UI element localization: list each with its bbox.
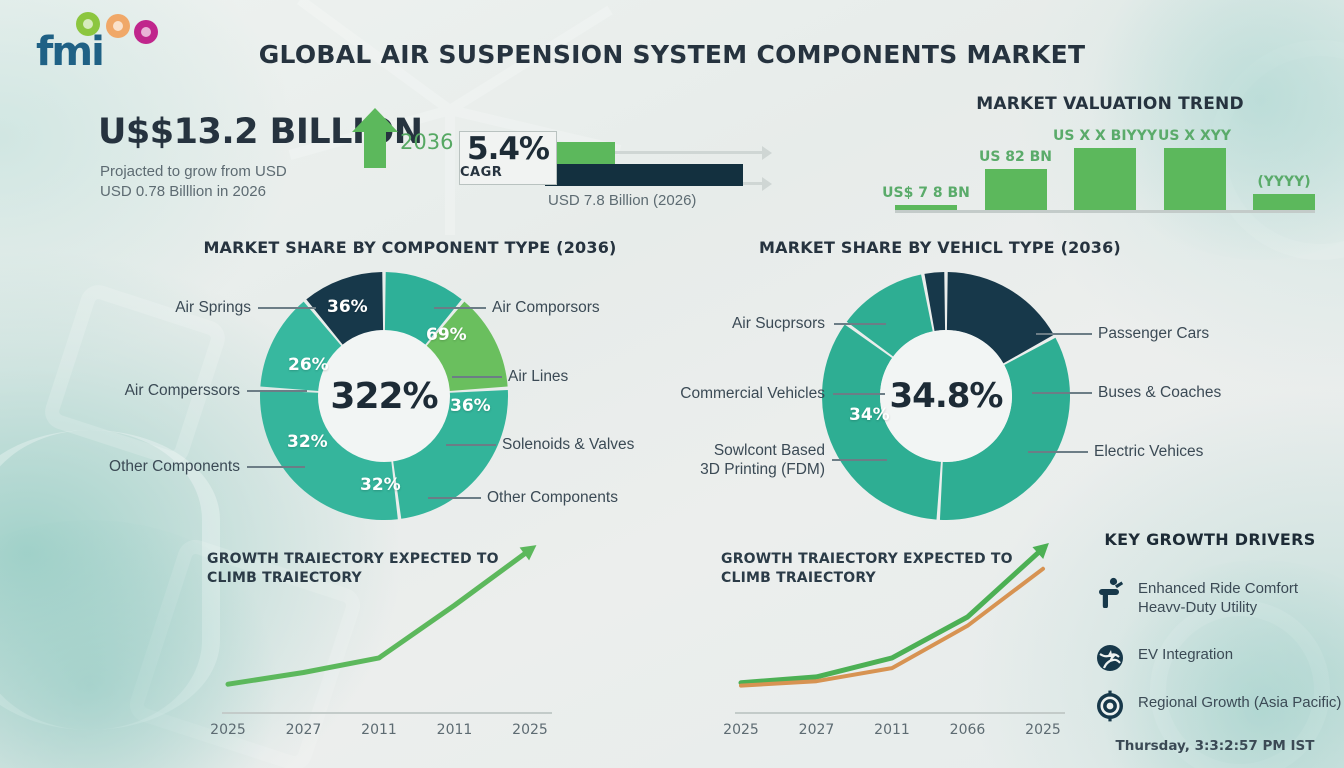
valuation-bar-label: (YYYY) <box>1209 174 1344 190</box>
trajectory-left-axis <box>222 712 552 714</box>
growth-driver-item-3: Regional Growth (Asia Pacific) <box>1094 690 1341 722</box>
leader-other-components-right <box>428 497 481 499</box>
target-region-icon <box>1094 690 1126 722</box>
logo-dot-orange <box>106 14 130 38</box>
trajectory-x-tick: 2025 <box>198 722 258 738</box>
trajectory-left-svg <box>222 530 552 716</box>
label-solenoids-valves: Solenoids & Valves <box>502 435 634 454</box>
growth-driver-1-line1: Enhanced Ride Comfort <box>1138 579 1298 598</box>
trajectory-x-tick: 2025 <box>711 722 771 738</box>
valuation-trend-title: MARKET VALUATION TREND <box>880 94 1340 114</box>
growth-driver-text-1: Enhanced Ride Comfort Heavv-Duty Utility <box>1138 576 1298 617</box>
component-donut-title: MARKET SHARE BY COMPONENT TYPE (2036) <box>150 238 670 257</box>
cagr-arrow-head-bottom <box>762 177 772 191</box>
slice-pct-air-comporsors: 69% <box>426 325 467 345</box>
leader-air-springs <box>258 307 316 309</box>
page-title: GLOBAL AIR SUSPENSION SYSTEM COMPONENTS … <box>0 40 1344 69</box>
slice-pct-air-springs: 36% <box>327 297 368 317</box>
trajectory-right-chart: 20252027201120662025 <box>735 530 1065 738</box>
trajectory-x-tick: 2027 <box>274 722 334 738</box>
valuation-trend-axis <box>895 210 1315 213</box>
leader-passenger-cars <box>1036 333 1092 335</box>
cagr-arrow-head-top <box>762 146 772 160</box>
cagr-badge: 5.4% CAGR <box>459 131 557 185</box>
growth-driver-item-1: Enhanced Ride Comfort Heavv-Duty Utility <box>1094 576 1298 617</box>
vehicle-donut-center: 34.8% <box>880 330 1012 462</box>
arrow-year-label: 2036 <box>400 130 453 154</box>
leader-air-sucprsors <box>834 323 886 325</box>
valuation-bar: US$ 7 8 BN <box>895 205 957 210</box>
trajectory-line <box>228 550 530 684</box>
label-air-sucprsors: Air Sucprsors <box>700 314 825 333</box>
component-donut-center: 322% <box>318 330 450 462</box>
label-electric-vehices: Electric Vehices <box>1094 442 1203 461</box>
cagr-label: CAGR <box>460 166 502 179</box>
ev-globe-icon <box>1094 642 1126 674</box>
growth-driver-text-3: Regional Growth (Asia Pacific) <box>1138 690 1341 712</box>
label-commercial-vehicles: Commercial Vehicles <box>650 384 825 403</box>
trajectory-x-tick: 2011 <box>425 722 485 738</box>
trajectory-x-tick: 2025 <box>500 722 560 738</box>
leader-air-lines <box>452 376 502 378</box>
label-solvent-line2: 3D Printing (FDM) <box>640 460 825 479</box>
label-solvent-based-3d-printing: Sowlcont Based 3D Printing (FDM) <box>640 441 825 479</box>
label-buses-coaches: Buses & Coaches <box>1098 383 1221 402</box>
vehicle-donut-chart: 34.8% <box>822 272 1070 520</box>
vehicle-donut-title: MARKET SHARE BY VEHICL TYPE (2036) <box>680 238 1200 257</box>
valuation-bar-fill <box>1074 148 1136 210</box>
slice-pct-solenoids: 36% <box>450 396 491 416</box>
leader-solenoids-valves <box>446 444 496 446</box>
leader-solvent-based <box>832 459 887 461</box>
slice-pct-other-bottom: 32% <box>360 475 401 495</box>
trajectory-line <box>741 548 1043 682</box>
valuation-bar: US 82 BN <box>985 169 1047 210</box>
label-passenger-cars: Passenger Cars <box>1098 324 1209 343</box>
trajectory-x-tick: 2025 <box>1013 722 1073 738</box>
valuation-bar: US X X BIYYY <box>1074 148 1136 210</box>
label-other-components-right: Other Components <box>487 488 618 507</box>
leader-air-comporsors <box>434 307 486 309</box>
headline-subtitle-line2: USD 0.78 Billlion in 2026 <box>100 182 287 202</box>
label-solvent-line1: Sowlcont Based <box>640 441 825 460</box>
trajectory-x-tick: 2011 <box>862 722 922 738</box>
slice-pct-air-comperssors: 26% <box>288 355 329 375</box>
cagr-bar-dark <box>545 164 743 186</box>
timestamp: Thursday, 3:3:2:57 PM IST <box>1090 738 1340 754</box>
leader-air-comperssors <box>247 390 307 392</box>
trajectory-right-svg <box>735 530 1065 716</box>
leader-electric-vehices <box>1028 451 1088 453</box>
growth-arrow-icon <box>352 108 398 168</box>
label-other-components-left: Other Components <box>55 457 240 476</box>
trajectory-x-tick: 2027 <box>787 722 847 738</box>
trajectory-left-chart: 20252027201120112025 <box>222 530 552 738</box>
base-value-caption: USD 7.8 Billion (2026) <box>548 192 696 209</box>
valuation-bar-label: US$ 7 8 BN <box>851 185 1001 201</box>
leader-buses-coaches <box>1032 392 1092 394</box>
leader-other-components-left <box>247 466 305 468</box>
trajectory-x-tick: 2066 <box>938 722 998 738</box>
valuation-bar-fill <box>1253 194 1315 210</box>
growth-driver-item-2: EV Integration <box>1094 642 1233 674</box>
label-air-springs: Air Springs <box>86 298 251 317</box>
valuation-bar-label: US 82 BN <box>941 149 1091 165</box>
headline-subtitle: Projacted to grow from USD USD 0.78 Bill… <box>100 162 287 202</box>
leader-commercial-vehicles <box>833 393 885 395</box>
slice-pct-commercial-vehicles: 34% <box>849 405 890 425</box>
valuation-bar-fill <box>985 169 1047 210</box>
cagr-value: 5.4% <box>460 132 556 166</box>
key-growth-drivers-title: KEY GROWTH DRIVERS <box>1090 530 1330 549</box>
slice-pct-other-left: 32% <box>287 432 328 452</box>
valuation-bar-fill <box>895 205 957 210</box>
label-air-lines: Air Lines <box>508 367 568 386</box>
trajectory-right-axis <box>735 712 1065 714</box>
label-air-comporsors: Air Comporsors <box>492 298 600 317</box>
trajectory-x-tick: 2011 <box>349 722 409 738</box>
valuation-trend-chart: US$ 7 8 BNUS 82 BNUS X X BIYYYUS X XYY(Y… <box>895 128 1315 213</box>
growth-driver-1-line2: Heavv-Duty Utility <box>1138 598 1298 617</box>
label-air-comperssors: Air Comperssors <box>50 381 240 400</box>
valuation-bar: (YYYY) <box>1253 194 1315 210</box>
valuation-bar-label: US X XYY <box>1120 128 1270 144</box>
growth-driver-3-line1: Regional Growth (Asia Pacific) <box>1138 693 1341 712</box>
growth-driver-2-line1: EV Integration <box>1138 645 1233 664</box>
growth-driver-text-2: EV Integration <box>1138 642 1233 664</box>
person-comfort-icon <box>1094 576 1126 608</box>
headline-subtitle-line1: Projacted to grow from USD <box>100 162 287 182</box>
infographic-canvas: fmi GLOBAL AIR SUSPENSION SYSTEM COMPONE… <box>0 0 1344 768</box>
